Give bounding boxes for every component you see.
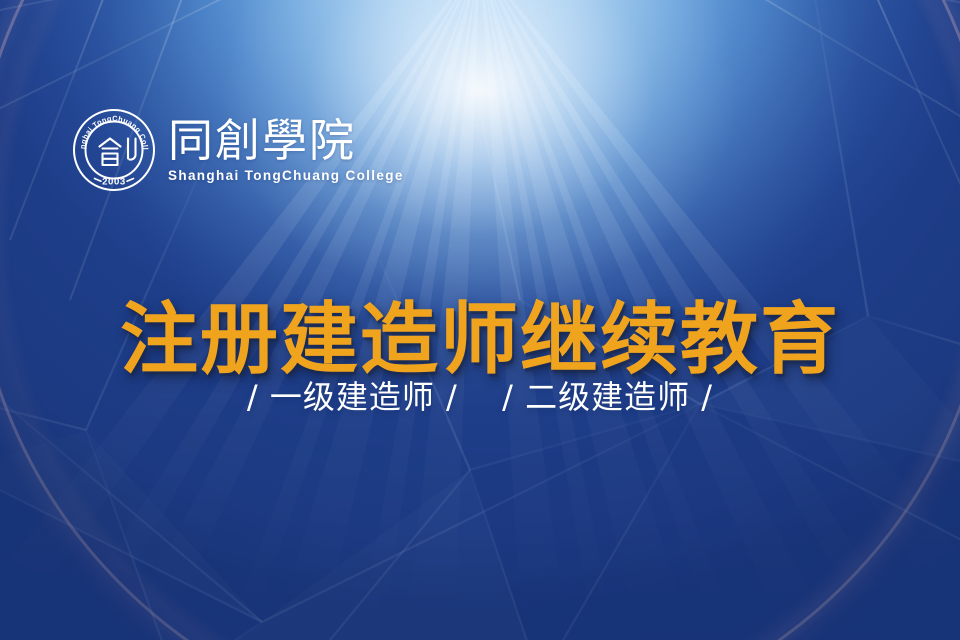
brand-logo[interactable]: Shanghai TongChuang College 2003 xyxy=(72,108,404,192)
subtitle-row: / 一级建造师 / / 二级建造师 / xyxy=(0,381,960,413)
seal-arc-text: Shanghai TongChuang College xyxy=(72,108,150,150)
headline-title: 注册建造师继续教育 xyxy=(0,301,960,379)
brand-name-cn: 同創學院 xyxy=(168,118,404,165)
brand-wordmark: 同創學院 Shanghai TongChuang College xyxy=(168,116,404,184)
brand-name-en: Shanghai TongChuang College xyxy=(168,169,404,184)
svg-text:Shanghai TongChuang College: Shanghai TongChuang College xyxy=(72,108,150,150)
banner-content: Shanghai TongChuang College 2003 xyxy=(0,0,960,640)
seal-year-text: 2003 xyxy=(102,177,126,188)
subtitle-item-level-1: / 一级建造师 / xyxy=(247,381,458,413)
subtitle-item-level-2: / 二级建造师 / xyxy=(502,381,713,413)
promo-banner: Shanghai TongChuang College 2003 xyxy=(0,0,960,640)
college-seal-icon: Shanghai TongChuang College 2003 xyxy=(72,108,156,192)
